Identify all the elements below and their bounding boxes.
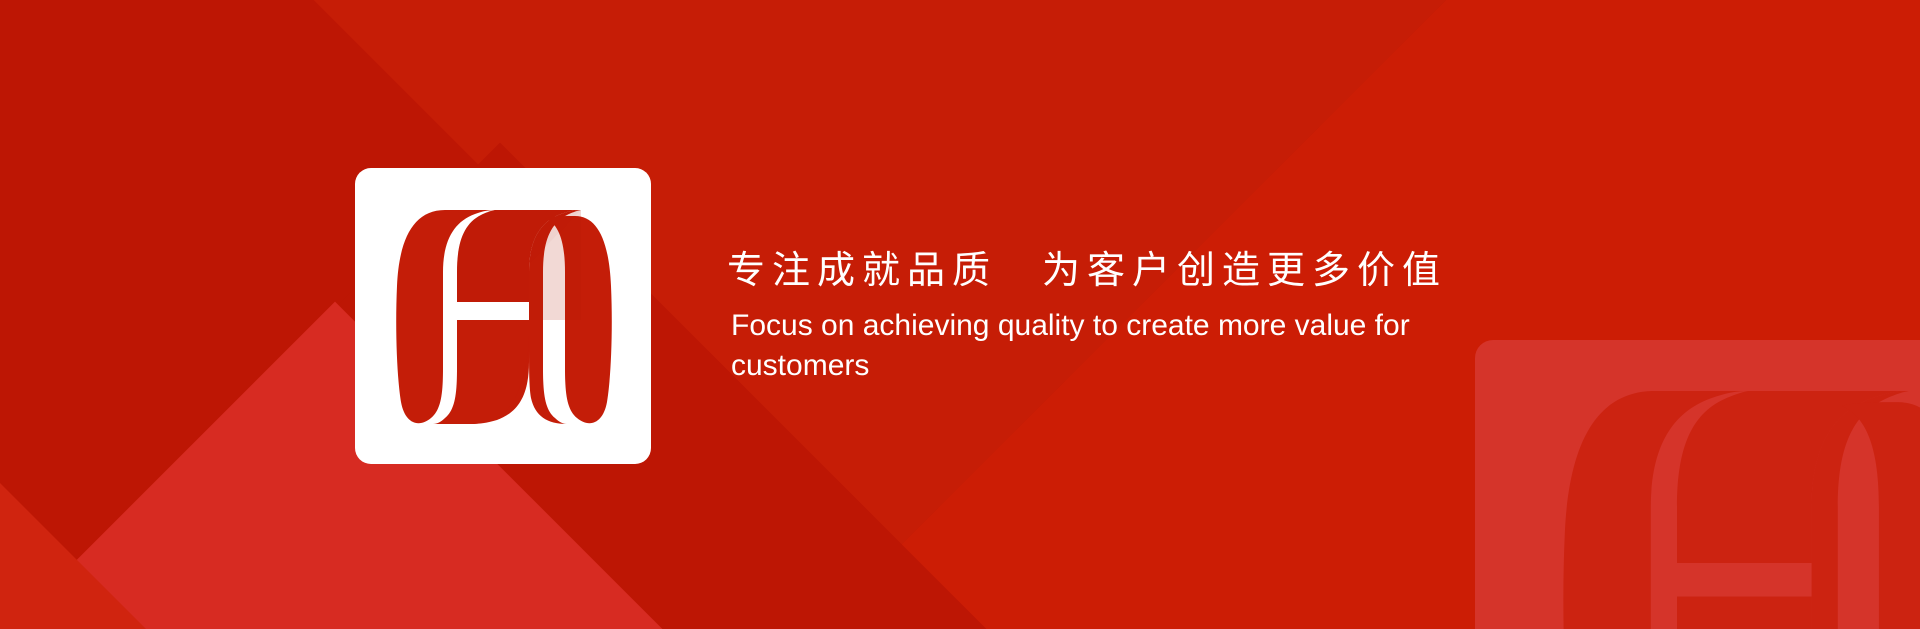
diagonal-shape-corner — [0, 433, 247, 629]
promo-banner: 专注成就品质 为客户创造更多价值 Focus on achieving qual… — [0, 0, 1920, 629]
company-logo — [355, 168, 651, 464]
subline-english: Focus on achieving quality to create mor… — [731, 306, 1501, 386]
slogan-block: 专注成就品质 为客户创造更多价值 Focus on achieving qual… — [727, 246, 1727, 386]
headline-chinese: 专注成就品质 为客户创造更多价值 — [727, 246, 1727, 296]
monogram-h-watermark-icon — [1533, 376, 1920, 629]
monogram-h-icon — [383, 202, 623, 432]
